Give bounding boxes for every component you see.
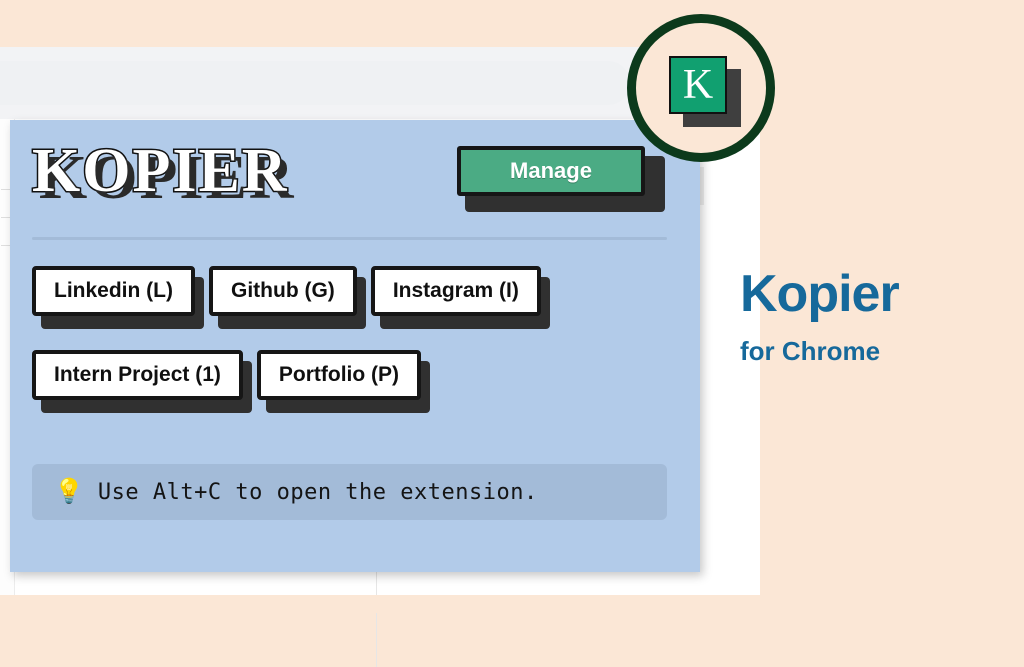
extension-icon-callout: K (627, 14, 775, 162)
shortcut-button-intern-project[interactable]: Intern Project (1) (32, 350, 243, 400)
shortcut-chip-wrap: Portfolio (P) (257, 350, 421, 412)
shortcut-button-portfolio[interactable]: Portfolio (P) (257, 350, 421, 400)
header-divider (32, 237, 667, 240)
page-title: KOPIER (32, 140, 289, 202)
shortcut-button-instagram[interactable]: Instagram (I) (371, 266, 541, 316)
product-wordmark: Kopier for Chrome (740, 268, 1010, 367)
screenshot-stage: KOPIER Manage Linkedin (L) Github (G) (0, 0, 1024, 613)
lightbulb-icon: 💡 (54, 480, 84, 504)
kopier-k-icon[interactable]: K (669, 56, 727, 114)
hint-bar: 💡 Use Alt+C to open the extension. (32, 464, 667, 520)
hint-text: Use Alt+C to open the extension. (98, 480, 538, 505)
wordmark-title: Kopier (740, 268, 1010, 320)
extension-popup: KOPIER Manage Linkedin (L) Github (G) (10, 120, 700, 572)
shortcut-chip-wrap: Github (G) (209, 266, 357, 328)
manage-button-wrap: Manage (457, 146, 667, 212)
shortcut-chip-wrap: Instagram (I) (371, 266, 541, 328)
shortcut-button-linkedin[interactable]: Linkedin (L) (32, 266, 195, 316)
shortcut-row: Linkedin (L) Github (G) Instagram (I) (32, 266, 682, 328)
address-bar[interactable] (0, 61, 630, 105)
shortcut-button-github[interactable]: Github (G) (209, 266, 357, 316)
wordmark-subtitle: for Chrome (740, 336, 1010, 367)
page-divider (376, 569, 377, 667)
shortcut-chip-wrap: Intern Project (1) (32, 350, 243, 412)
shortcut-row: Intern Project (1) Portfolio (P) (32, 350, 682, 412)
manage-button[interactable]: Manage (457, 146, 645, 196)
shortcut-list: Linkedin (L) Github (G) Instagram (I) In… (32, 266, 682, 434)
shortcut-chip-wrap: Linkedin (L) (32, 266, 195, 328)
popup-header: KOPIER Manage (10, 120, 700, 236)
